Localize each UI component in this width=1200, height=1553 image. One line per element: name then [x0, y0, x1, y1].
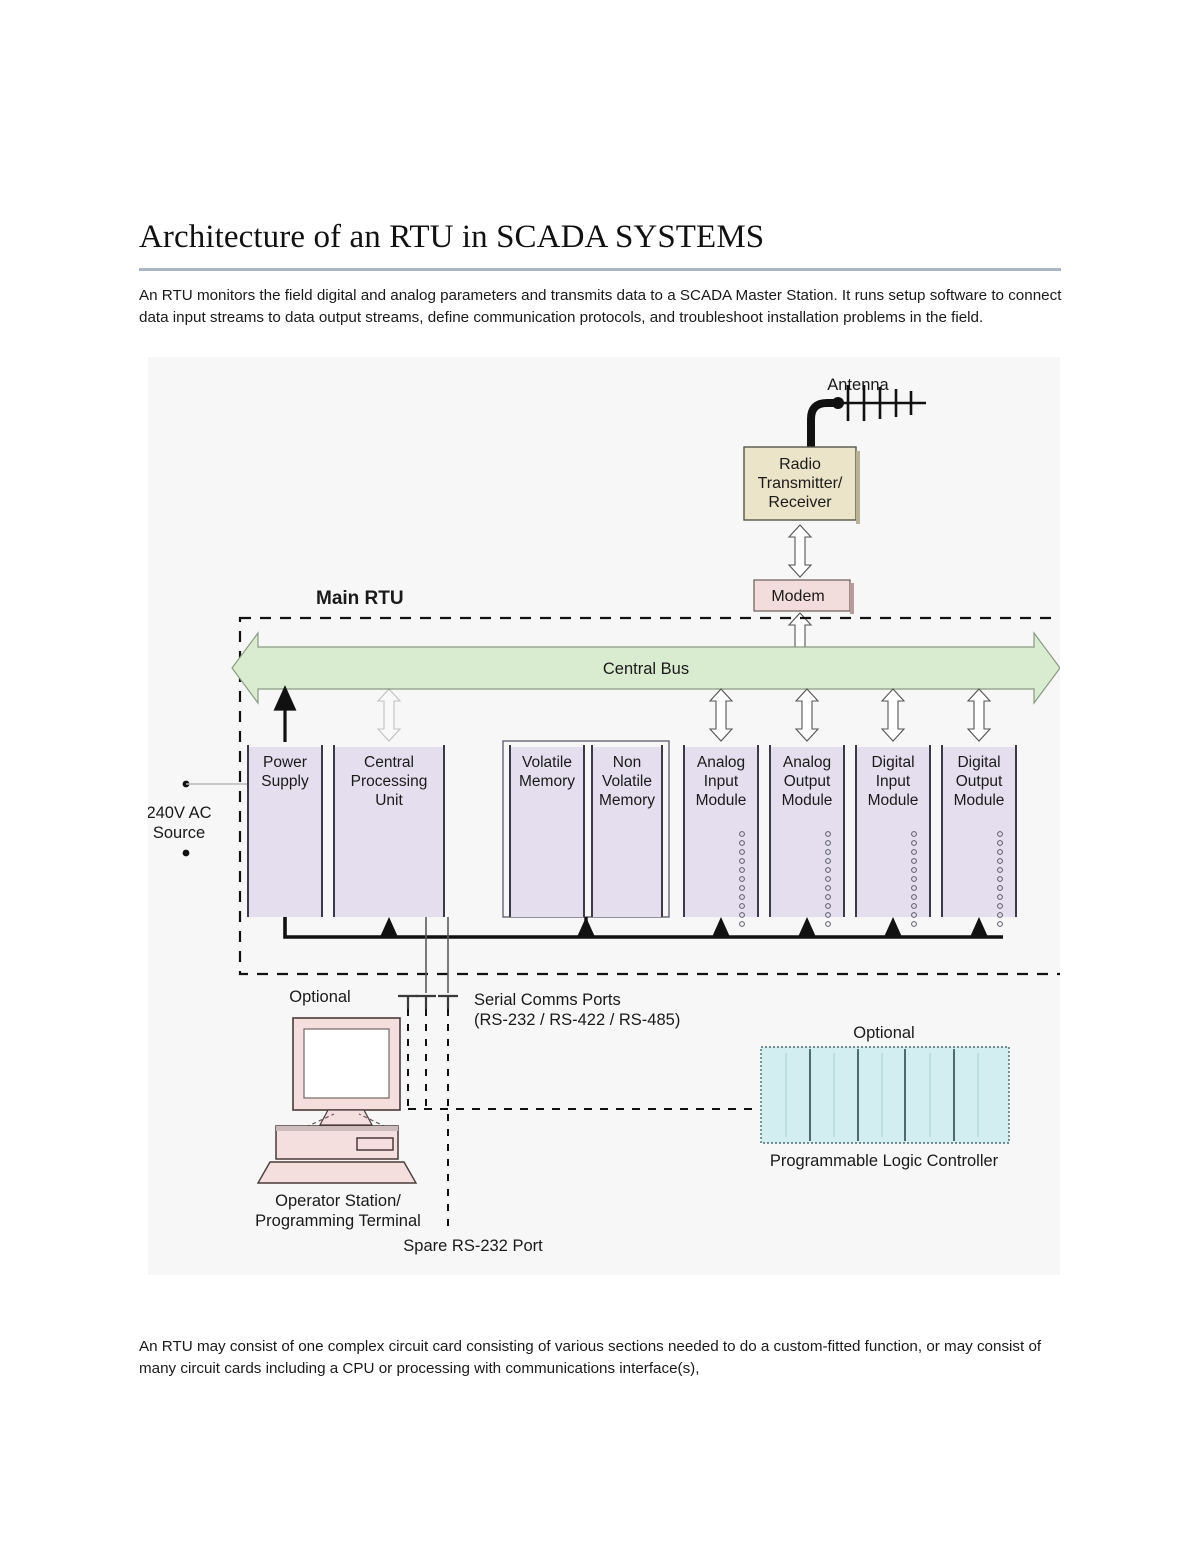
radio-label-2: Transmitter/ [758, 475, 843, 492]
module-label: Analog [783, 754, 831, 771]
bus-connector-arrow [710, 689, 732, 741]
rtu-architecture-figure: Antenna Radio Transmitter/ Receiver [148, 357, 1060, 1275]
outro-paragraph: An RTU may consist of one complex circui… [139, 1336, 1067, 1380]
power-feed-arrow [380, 917, 398, 937]
module-label: Module [696, 792, 747, 809]
ac-source-label-2: Source [153, 824, 205, 842]
power-feed-arrow [970, 917, 988, 937]
optional-left-label: Optional [289, 988, 350, 1006]
power-feed-arrow [798, 917, 816, 937]
module-label: Output [784, 773, 831, 790]
serial-ports-label-1: Serial Comms Ports [474, 991, 621, 1009]
modem-label: Modem [771, 588, 824, 605]
spare-port-label: Spare RS-232 Port [403, 1237, 543, 1255]
module-label: Digital [957, 754, 1000, 771]
terminal-dot [998, 922, 1003, 927]
power-distribution-rail [285, 917, 1003, 937]
antenna-group: Antenna [805, 376, 926, 458]
serial-ports-label-2: (RS-232 / RS-422 / RS-485) [474, 1011, 680, 1029]
module-label: Central [364, 754, 414, 771]
module-digital-output: DigitalOutputModule [942, 689, 1016, 926]
radio-transceiver-box: Radio Transmitter/ Receiver [744, 447, 860, 524]
module-label: Output [956, 773, 1003, 790]
module-digital-input: DigitalInputModule [856, 689, 930, 926]
module-label: Non [613, 754, 641, 771]
bus-connector-arrow [378, 689, 400, 741]
terminal-dot [826, 922, 831, 927]
intro-paragraph: An RTU monitors the field digital and an… [139, 285, 1064, 328]
module-label: Volatile [522, 754, 572, 771]
module-cpu: CentralProcessingUnit [334, 689, 444, 917]
module-label: Processing [351, 773, 428, 790]
module-analog-output: AnalogOutputModule [770, 689, 844, 926]
central-bus-label: Central Bus [603, 660, 689, 678]
operator-station-label-1: Operator Station/ [275, 1192, 401, 1210]
module-label: Input [876, 773, 911, 790]
module-analog-input: AnalogInputModule [684, 689, 758, 926]
module-label: Module [868, 792, 919, 809]
module-label: Power [263, 754, 307, 771]
module-label: Memory [599, 792, 655, 809]
module-label: Input [704, 773, 739, 790]
document-page: Architecture of an RTU in SCADA SYSTEMS … [0, 0, 1200, 1553]
central-bus: Central Bus [232, 633, 1060, 703]
terminal-dot [740, 922, 745, 927]
modem-box: Modem [754, 580, 854, 614]
module-label: Module [954, 792, 1005, 809]
bus-connector-arrow [968, 689, 990, 741]
radio-label-1: Radio [779, 456, 821, 473]
radio-modem-connector [789, 525, 811, 577]
power-feed-arrow [712, 917, 730, 937]
module-power-supply: PowerSupply [248, 689, 322, 917]
main-rtu-label: Main RTU [316, 588, 404, 609]
plc-group: Optional Programmable Logic Controller [761, 1024, 1009, 1170]
operator-station-group: Optional Operator Station/ Programming T… [255, 988, 421, 1230]
page-title: Architecture of an RTU in SCADA SYSTEMS [139, 219, 1061, 256]
title-divider [139, 268, 1061, 271]
plc-label: Programmable Logic Controller [770, 1152, 999, 1170]
power-to-bus-arrow [276, 689, 294, 742]
module-label: Analog [697, 754, 745, 771]
module-column-group: PowerSupplyCentralProcessingUnitVolatile… [248, 689, 1016, 926]
radio-label-3: Receiver [768, 494, 832, 511]
module-nonvolatile-memory: NonVolatileMemory [592, 745, 662, 917]
operator-station-label-2: Programming Terminal [255, 1212, 421, 1230]
module-label: Digital [871, 754, 914, 771]
module-label: Module [782, 792, 833, 809]
bus-connector-arrow [796, 689, 818, 741]
module-label: Supply [261, 773, 309, 790]
bus-connector-arrow [882, 689, 904, 741]
ac-source-label-1: 240V AC [148, 804, 212, 822]
module-label: Unit [375, 792, 403, 809]
power-feed-arrow [884, 917, 902, 937]
optional-right-label: Optional [853, 1024, 914, 1042]
module-volatile-memory: VolatileMemory [510, 745, 584, 917]
terminal-dot [912, 922, 917, 927]
module-label: Volatile [602, 773, 652, 790]
module-label: Memory [519, 773, 575, 790]
